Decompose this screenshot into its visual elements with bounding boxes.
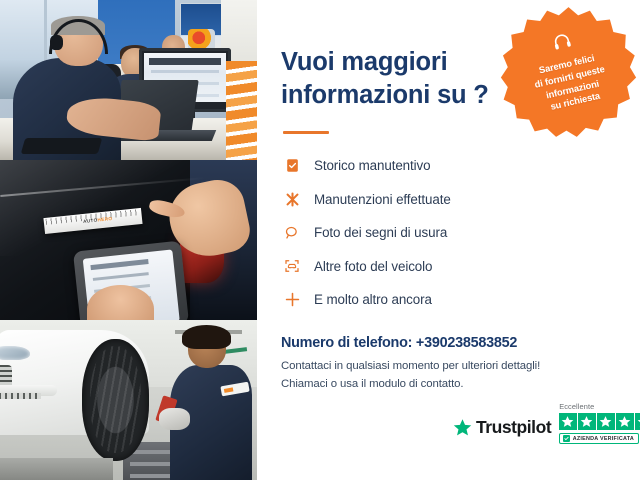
phone-number[interactable]: +390238583852: [416, 335, 517, 351]
autohero-info-banner: AUTOHERO: [0, 0, 640, 480]
trustpilot-logo[interactable]: Trustpilot: [453, 417, 551, 444]
trustpilot-block[interactable]: Trustpilot Eccellente AZIENDA VERIFICATA: [453, 402, 640, 444]
trustpilot-wordmark: Trustpilot: [476, 417, 551, 438]
verified-text: AZIENDA VERIFICATA: [573, 436, 634, 442]
badge-text: Saremo felici di fornirti queste informa…: [530, 50, 611, 116]
heading-line-2: informazioni su ?: [281, 81, 489, 109]
feature-label: Altre foto del veicolo: [314, 259, 432, 274]
contact-subtext: Contattaci in qualsiasi momento per ulte…: [281, 358, 640, 393]
car-lower-grille: [0, 393, 41, 399]
heading-line-1: Vuoi maggiori: [281, 48, 447, 76]
vehicle-inspection-photo: AUTOHERO: [0, 160, 257, 320]
phone-line: Numero di telefono: +390238583852: [281, 335, 640, 351]
star-2: [578, 413, 596, 431]
headset-earpiece: [50, 35, 63, 49]
feature-label: Foto dei segni di usura: [314, 225, 447, 240]
magnifier-icon: [281, 223, 303, 243]
list-item: Storico manutentivo: [281, 152, 640, 179]
trustpilot-rating: Eccellente AZIENDA VERIFICATA: [559, 402, 640, 444]
star-5-half: [635, 413, 640, 431]
rating-label: Eccellente: [559, 402, 594, 411]
desk-tablet: [21, 138, 103, 154]
call-center-agents-photo: [0, 0, 257, 160]
list-item: Altre foto del veicolo: [281, 253, 640, 280]
orange-display-stand: [226, 61, 257, 160]
verified-check-icon: [563, 435, 570, 442]
photo-scan-car-icon: [281, 256, 303, 276]
trustpilot-star-icon: [453, 418, 472, 437]
plus-icon: [281, 290, 303, 310]
contact-subtext-line-2: Chiamaci o usa il modulo di contatto.: [281, 378, 463, 390]
car-wheel: [82, 339, 149, 461]
star-rating: [559, 413, 640, 431]
contact-subtext-line-1: Contattaci in qualsiasi momento per ulte…: [281, 360, 540, 372]
phone-label: Numero di telefono:: [281, 335, 412, 351]
star-3: [597, 413, 615, 431]
headset-icon: [549, 30, 574, 59]
title-divider: [283, 131, 329, 134]
photo-column: AUTOHERO: [0, 0, 257, 480]
mechanic-glove: [159, 408, 190, 430]
list-item: E molto altro ancora: [281, 286, 640, 313]
clipboard-check-icon: [281, 156, 303, 176]
star-4: [616, 413, 634, 431]
feature-label: Manutenzioni effettuate: [314, 192, 451, 207]
content-panel: Vuoi maggiori informazioni su ? Storico …: [257, 0, 640, 480]
phone-block: Numero di telefono: +390238583852 Contat…: [281, 335, 640, 393]
mechanic-hair: [182, 325, 231, 349]
star-1: [559, 413, 577, 431]
list-item: Manutenzioni effettuate: [281, 186, 640, 213]
feature-label: Storico manutentivo: [314, 158, 430, 173]
feature-label: E molto altro ancora: [314, 292, 432, 307]
page-title: Vuoi maggiori informazioni su ?: [281, 46, 516, 112]
vehicle-lift-platform: [0, 458, 113, 480]
list-item: Foto dei segni di usura: [281, 219, 640, 246]
car-headlight: [0, 346, 30, 360]
tools-cross-icon: [281, 189, 303, 209]
feature-list: Storico manutentivo Manutenzioni effettu…: [281, 152, 640, 313]
verified-business-badge: AZIENDA VERIFICATA: [559, 433, 639, 444]
mechanic-wheel-photo: [0, 320, 257, 480]
callout-badge: Saremo felici di fornirti queste informa…: [496, 3, 640, 141]
